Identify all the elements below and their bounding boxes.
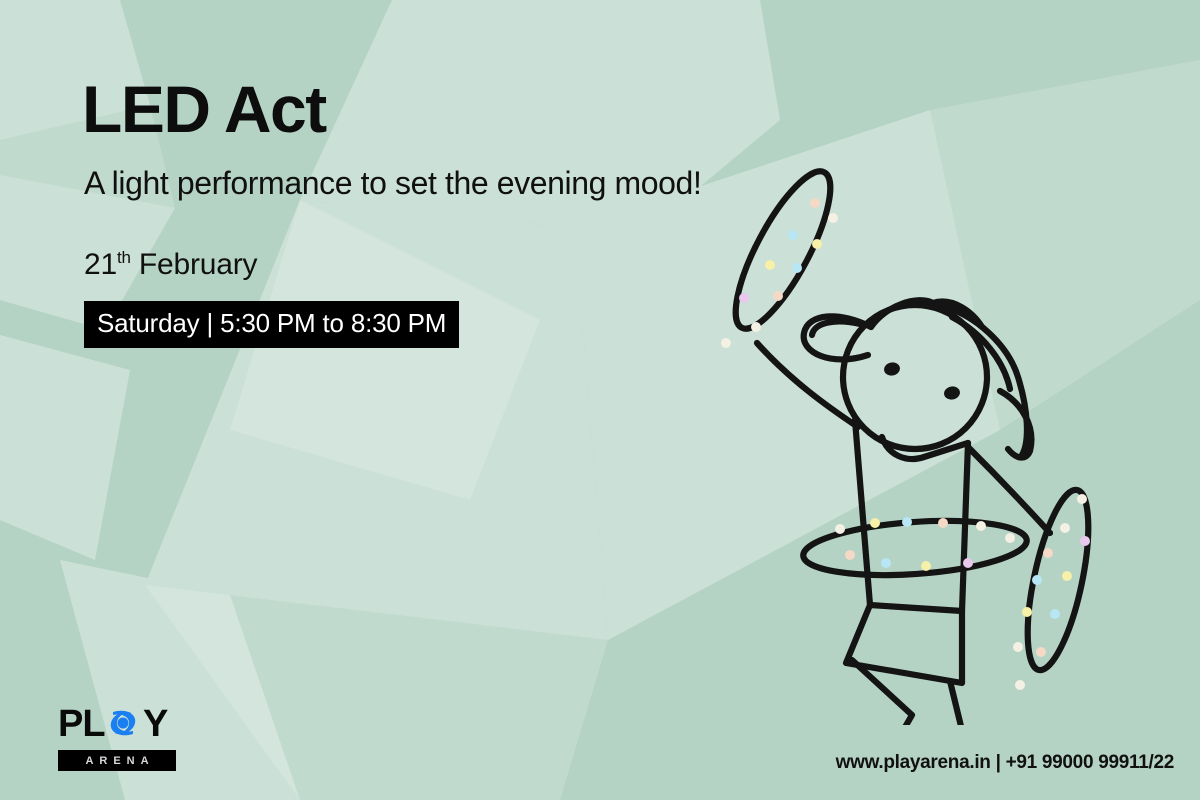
led-dot (881, 558, 891, 568)
hoop-raised-left (719, 160, 848, 340)
play-arena-logo[interactable]: PL Y ARENA (58, 703, 188, 771)
led-dot (1043, 548, 1053, 558)
logo-arena-bar: ARENA (58, 750, 176, 771)
led-dot (902, 517, 912, 527)
led-dot (1050, 609, 1060, 619)
led-dot (1015, 680, 1025, 690)
led-dot (1013, 642, 1023, 652)
led-dot (765, 260, 775, 270)
leg-right (950, 681, 988, 725)
event-date-suffix: th (117, 248, 131, 267)
led-dot (1060, 523, 1070, 533)
girl-with-led-hula-hoops-illustration (700, 155, 1130, 725)
led-dot (721, 338, 731, 348)
bg-shape-lower-left-wing (0, 335, 130, 560)
pigtail-left-strand (812, 321, 860, 335)
led-dot (921, 561, 931, 571)
led-dot (739, 293, 749, 303)
led-dot (1036, 647, 1046, 657)
led-dot (938, 518, 948, 528)
led-dots-group (721, 198, 1090, 690)
event-date-month: February (139, 248, 257, 281)
footer-contact[interactable]: www.playarena.in | +91 99000 99911/22 (836, 752, 1174, 774)
eye-left (883, 361, 901, 377)
logo-wordmark-prefix: PL (58, 703, 105, 743)
led-dot (751, 322, 761, 332)
led-dot (1077, 494, 1087, 504)
eye-right (943, 385, 961, 401)
led-dot (845, 550, 855, 560)
led-dot (812, 239, 822, 249)
led-dot (828, 213, 838, 223)
page-title: LED Act (82, 76, 842, 143)
led-dot (870, 518, 880, 528)
poster-canvas: LED Act A light performance to set the e… (0, 0, 1200, 800)
play-swirl-icon (111, 711, 135, 736)
event-time-badge: Saturday | 5:30 PM to 8:30 PM (84, 301, 459, 348)
led-dot (1080, 536, 1090, 546)
led-dot (1005, 533, 1015, 543)
led-dot (1062, 571, 1072, 581)
led-dot (773, 291, 783, 301)
logo-arena-text: ARENA (79, 755, 154, 767)
led-dot (792, 263, 802, 273)
event-date-day: 21 (84, 248, 117, 281)
led-dot (810, 198, 820, 208)
hoop-waist (801, 514, 1028, 581)
pigtail-right (940, 305, 1027, 455)
led-dot (1032, 575, 1042, 585)
logo-wordmark: PL Y (58, 703, 176, 743)
logo-wordmark-suffix: Y (143, 703, 168, 743)
led-dot (788, 230, 798, 240)
led-dot (976, 521, 986, 531)
led-dot (835, 524, 845, 534)
led-dot (1022, 607, 1032, 617)
led-dot (963, 558, 973, 568)
